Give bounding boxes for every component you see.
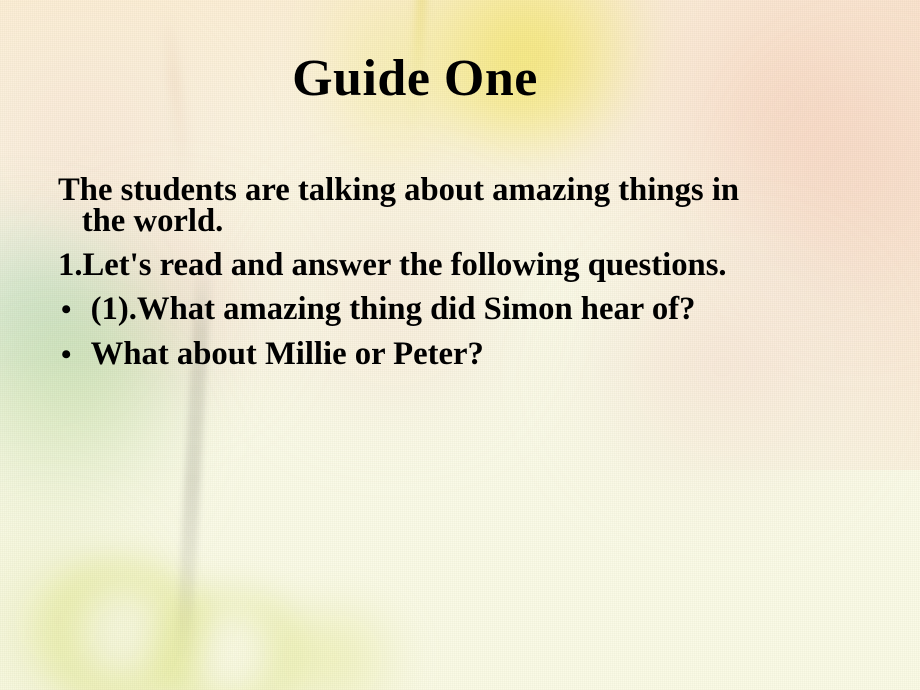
body-bullet-item: • (1).What amazing thing did Simon hear … xyxy=(58,294,907,339)
body-bullet-item: • What about Millie or Peter? xyxy=(58,339,907,384)
body-paragraph-line-2: the world. xyxy=(58,206,907,250)
body-paragraph-line-1: The students are talking about amazing t… xyxy=(58,168,907,206)
bullet-point-icon: • xyxy=(58,295,91,325)
presentation-slide: Guide One The students are talking about… xyxy=(0,0,920,690)
body-numbered-item: 1.Let's read and answer the following qu… xyxy=(58,250,907,294)
slide-body: The students are talking about amazing t… xyxy=(58,168,916,384)
slide-content: Guide One The students are talking about… xyxy=(0,0,920,690)
body-paragraph: The students are talking about amazing t… xyxy=(58,168,916,250)
body-bullet-label: What about Millie or Peter? xyxy=(91,339,484,369)
body-bullet-label: (1).What amazing thing did Simon hear of… xyxy=(91,294,696,324)
slide-title: Guide One xyxy=(0,52,830,107)
bullet-point-icon: • xyxy=(58,340,91,370)
